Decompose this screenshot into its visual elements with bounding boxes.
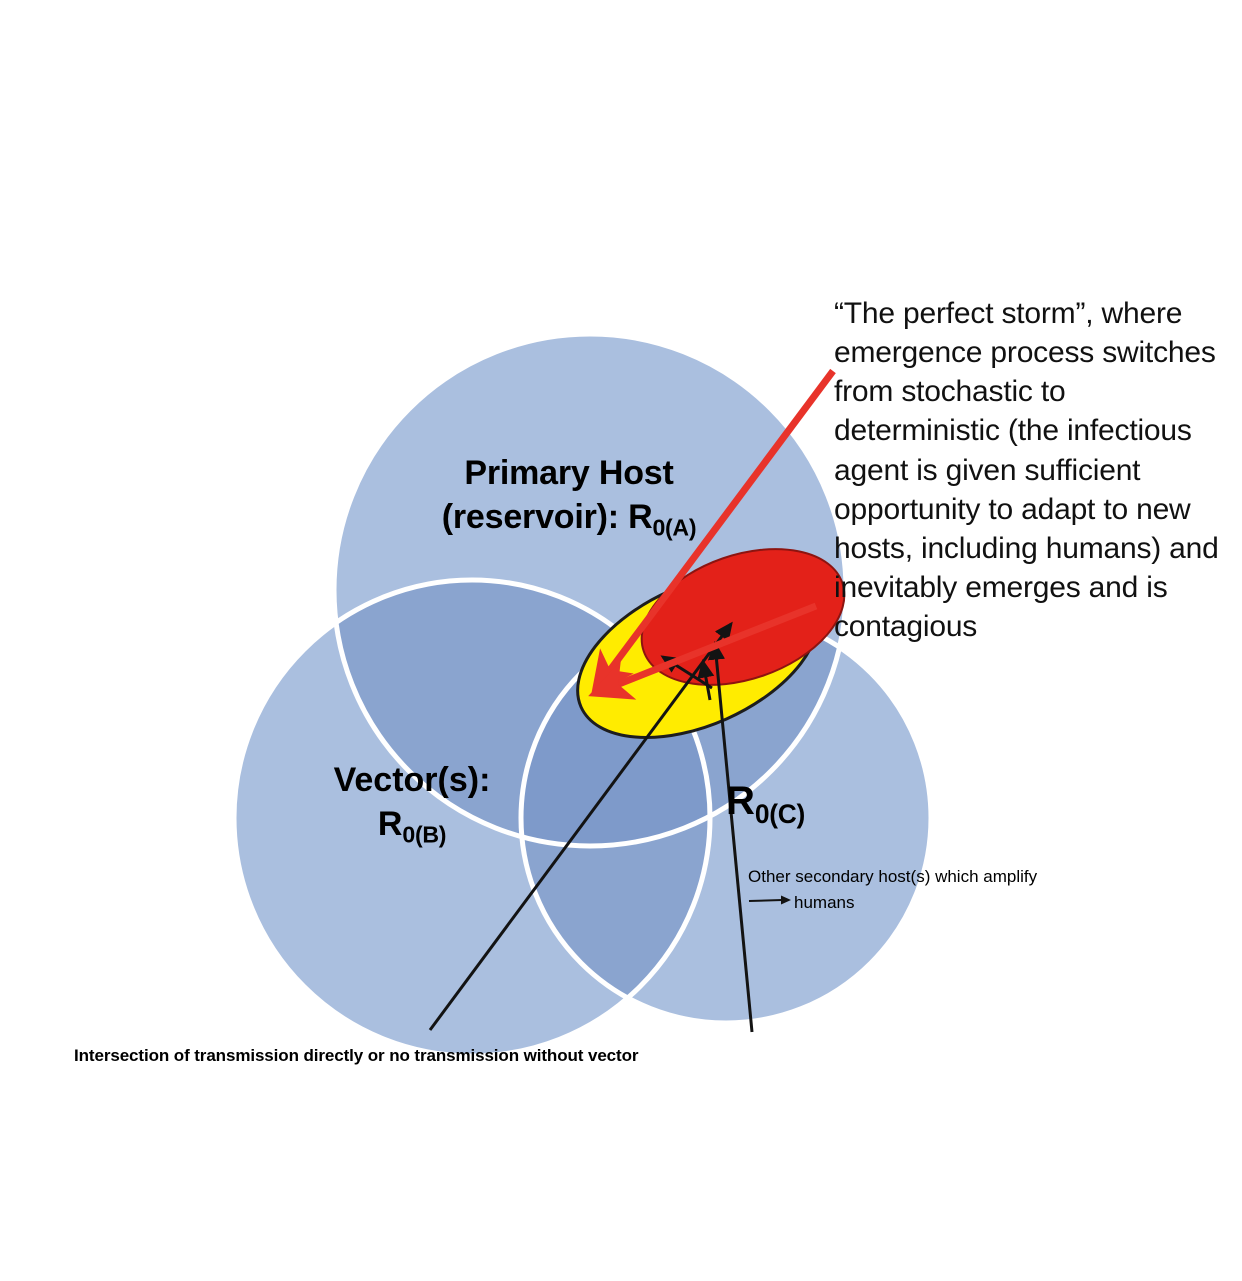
label-vector-subscript: 0(B) bbox=[402, 822, 446, 848]
annotation-perfect-storm: “The perfect storm”, where emergence pro… bbox=[834, 294, 1234, 646]
label-primary-host-line1: Primary Host bbox=[464, 454, 673, 492]
label-r0c-prefix: R bbox=[726, 779, 755, 823]
label-primary-host: Primary Host(reservoir): R0(A) bbox=[404, 452, 734, 543]
label-vector-line2: R bbox=[378, 805, 403, 843]
secondary-host-caption-part1: Other secondary host(s) which amplify bbox=[748, 867, 1037, 886]
diagram-canvas: Primary Host(reservoir): R0(A) Vector(s)… bbox=[0, 0, 1242, 1281]
right-arrow-icon bbox=[748, 897, 794, 907]
caption-intersection: Intersection of transmission directly or… bbox=[74, 1046, 638, 1066]
label-vector-line1: Vector(s): bbox=[334, 761, 491, 799]
label-secondary-host-caption: Other secondary host(s) which amplifyhum… bbox=[748, 864, 1058, 917]
label-r0c-subscript: 0(C) bbox=[755, 799, 805, 829]
label-vector: Vector(s):R0(B) bbox=[262, 758, 562, 850]
secondary-host-caption-part2: humans bbox=[794, 893, 854, 912]
label-secondary-host-r0: R0(C) bbox=[726, 781, 805, 827]
label-primary-host-line2: (reservoir): R bbox=[442, 498, 653, 536]
label-primary-host-subscript: 0(A) bbox=[652, 514, 696, 540]
